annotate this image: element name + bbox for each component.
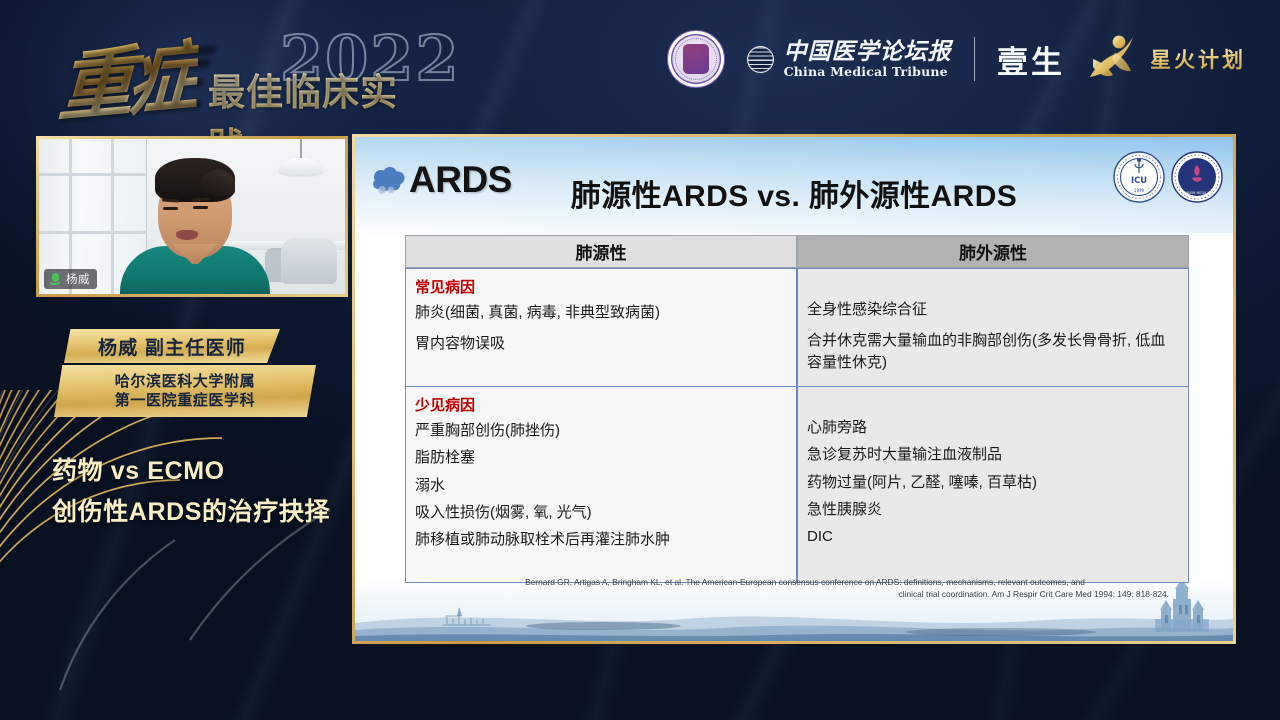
slide-header: ARDS 肺源性ARDS vs. 肺外源性ARDS ICU 1999 [355,145,1233,227]
list-item: 急诊复苏时大量输注血液制品 [807,444,1179,465]
yisheng-logo: 壹生 [997,37,1065,82]
event-logo: 2022 重症 最佳临床实践 [58,14,418,106]
xinghuo-label: 星火计划 [1150,44,1246,74]
participant-name: 杨威 [66,271,90,287]
flying-figure-icon [1087,33,1143,85]
speaker-affiliation-banner: 哈尔滨医科大学附属 第一医院重症医学科 [54,365,316,417]
speaker-name-title: 杨威 副主任医师 [98,333,246,360]
slide-citation: Bernard GR, Artigas A, Bringham KL, et a… [403,576,1207,601]
chair [281,238,337,284]
table-column-extrapulmonary: 全身性感染综合征 合并休克需大量输血的非胸部创伤(多发长骨骨折, 低血容量性休克… [797,268,1189,583]
list-item: 急性胰腺炎 [807,499,1179,520]
presentation-slide[interactable]: ARDS 肺源性ARDS vs. 肺外源性ARDS ICU 1999 [352,134,1236,644]
section-label-common: 常见病因 [415,276,787,297]
pendant-lamp [279,139,323,185]
list-item: 全身性感染综合征 [807,299,1179,320]
list-item: 心肺旁路 [807,417,1179,438]
speaker-video-tile[interactable]: 杨威 [36,136,348,297]
list-item: 严重胸部创伤(肺挫伤) [415,420,787,441]
university-hospital-seal-icon: HARBIN MEDICAL [1170,150,1224,204]
table-column-pulmonary: 常见病因 肺炎(细菌, 真菌, 病毒, 非典型致病菌) 胃内容物误吸 少见病因 … [405,268,797,583]
citation-line-1: Bernard GR, Artigas A, Bringham KL, et a… [403,576,1207,589]
citation-line-2: clinical trial coordination. Am J Respir… [403,588,1207,601]
list-item: 肺炎(细菌, 真菌, 病毒, 非典型致病菌) [415,302,787,323]
cmt-english-name: China Medical Tribune [784,66,952,79]
talk-title-line-2: 创伤性ARDS的治疗抉择 [52,492,348,533]
xinghuo-program-logo: 星火计划 [1087,33,1246,85]
affiliation-line-2: 第一医院重症医学科 [115,392,255,410]
table-cell-extrapulmonary-common: 全身性感染综合征 合并休克需大量输血的非胸部创伤(多发长骨骨折, 低血容量性休克… [797,268,1189,387]
table-cell-pulmonary-rare: 少见病因 严重胸部创伤(肺挫伤) 脂肪栓塞 溺水 吸入性损伤(烟雾, 氧, 光气… [405,387,797,583]
list-item: 溺水 [415,475,787,496]
table-header-extrapulmonary: 肺外源性 [797,235,1189,268]
hair [155,158,235,202]
broadcast-stage: 2022 重症 最佳临床实践 中国医学论坛报 China Medical Tri… [0,0,1280,720]
event-brush-title: 重症 [56,14,199,137]
speaker-figure [120,162,270,294]
svg-text:HARBIN MEDICAL: HARBIN MEDICAL [1182,191,1212,195]
list-item: 脂肪栓塞 [415,447,787,468]
list-item: 药物过量(阿片, 乙醛, 噻嗪, 百草枯) [807,472,1179,493]
speaker-name-banner: 杨威 副主任医师 [64,329,280,363]
table-header-row: 肺源性 肺外源性 [405,235,1189,268]
microphone-icon [48,272,62,286]
talk-title: 药物 vs ECMO 创伤性ARDS的治疗抉择 [52,451,348,532]
slide-seal-group: ICU 1999 HARBIN MEDICAL [1112,150,1224,204]
list-item: 合并休克需大量输血的非胸部创伤(多发长骨骨折, 低血容量性休克) [807,330,1179,373]
comparison-table: 肺源性 肺外源性 常见病因 肺炎(细菌, 真菌, 病毒, 非典型致病菌) 胃内容… [405,235,1189,583]
header-logo-group: 中国医学论坛报 China Medical Tribune 壹生 [667,20,1246,98]
talk-title-line-1: 药物 vs ECMO [52,451,348,492]
globe-icon [747,46,774,73]
eye-left [163,207,178,210]
svg-text:1999: 1999 [1134,188,1145,193]
slide-title: 肺源性ARDS vs. 肺外源性ARDS [355,171,1233,215]
svg-text:ICU: ICU [1131,175,1147,185]
table-cell-extrapulmonary-rare: 心肺旁路 急诊复苏时大量输注血液制品 药物过量(阿片, 乙醛, 噻嗪, 百草枯)… [797,387,1189,583]
section-label-rare: 少见病因 [415,394,787,415]
eye-right [193,206,208,209]
china-medical-tribune-logo: 中国医学论坛报 China Medical Tribune [747,40,952,79]
table-cell-pulmonary-common: 常见病因 肺炎(细菌, 真菌, 病毒, 非典型致病菌) 胃内容物误吸 [405,268,797,387]
participant-name-badge: 杨威 [44,269,97,289]
speaker-panel: 杨威 杨威 副主任医师 哈尔滨医科大学附属 第一医院重症医学科 药物 vs EC… [36,136,348,532]
hospital-seal-logo-icon [667,30,725,88]
list-item: DIC [807,526,1179,547]
table-body: 常见病因 肺炎(细菌, 真菌, 病毒, 非典型致病菌) 胃内容物误吸 少见病因 … [405,268,1189,583]
mouth [176,230,198,240]
list-item: 胃内容物误吸 [415,333,787,354]
logo-divider [974,37,975,81]
list-item: 吸入性损伤(烟雾, 氧, 光气) [415,502,787,523]
broadcast-header: 2022 重症 最佳临床实践 中国医学论坛报 China Medical Tri… [0,0,1280,118]
affiliation-line-1: 哈尔滨医科大学附属 [115,373,255,391]
table-header-pulmonary: 肺源性 [405,235,797,268]
list-item: 肺移植或肺动脉取栓术后再灌注肺水肿 [415,529,787,550]
icu-department-seal-icon: ICU 1999 [1112,150,1166,204]
pier-illustration-icon [441,603,493,629]
cmt-chinese-name: 中国医学论坛报 [784,40,952,63]
